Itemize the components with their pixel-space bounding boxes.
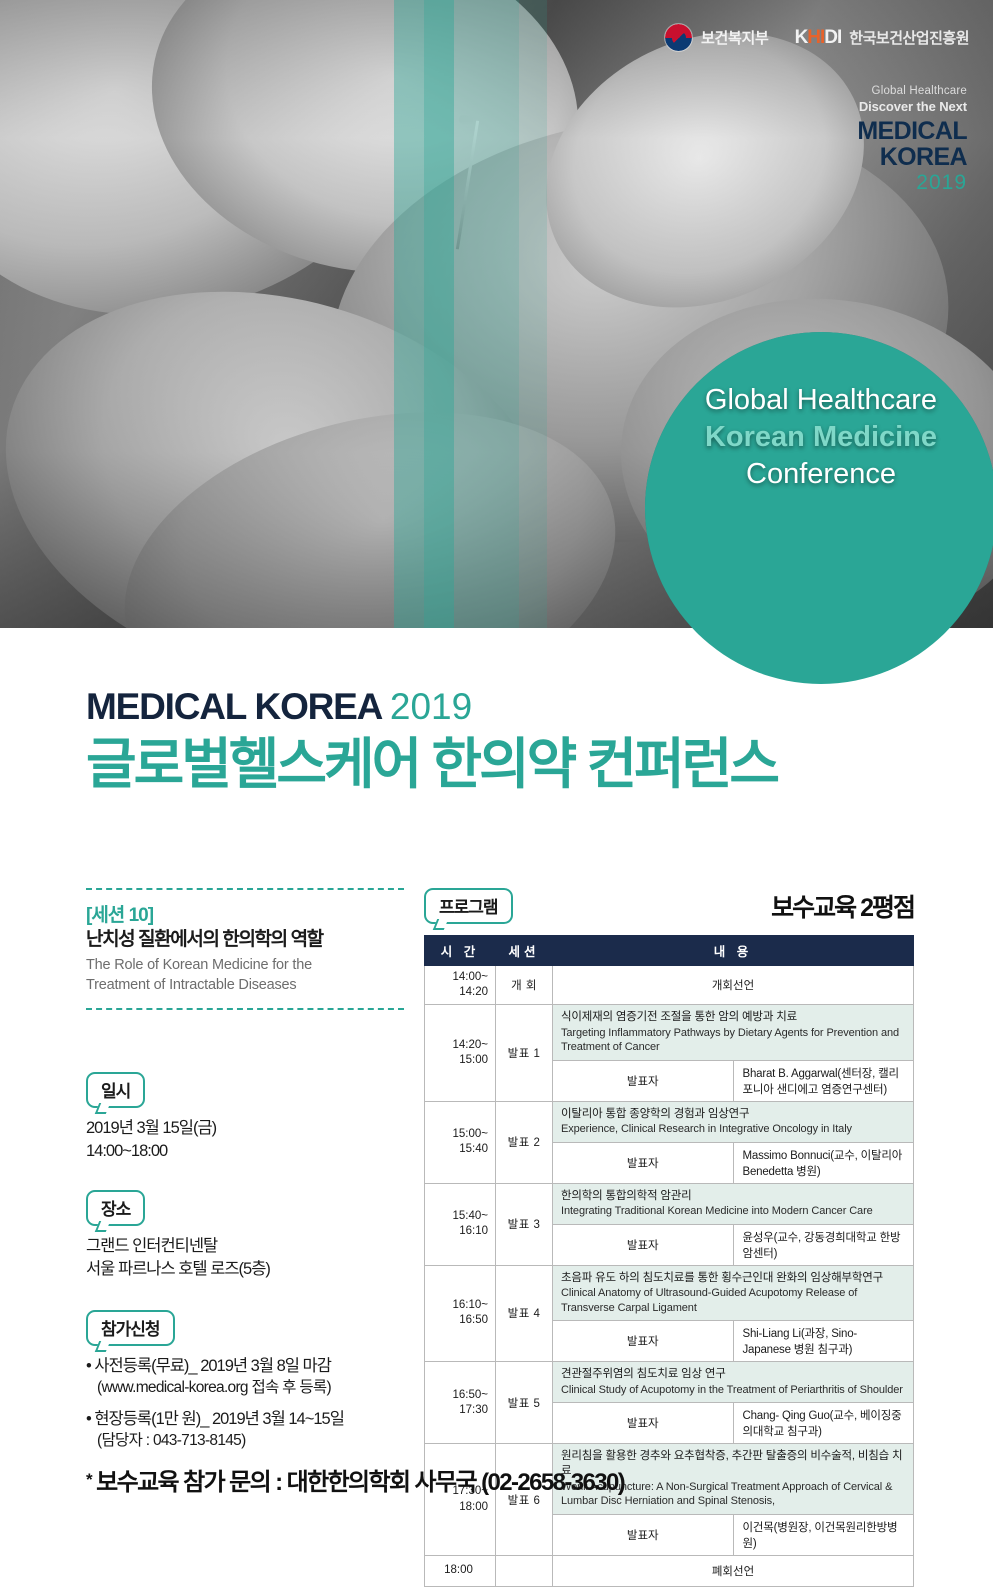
cell-session: 개 회 [496,966,553,1005]
venue-label: 장소 [86,1190,145,1226]
topic-cell: 식이제재의 염증기전 조절을 통한 암의 예방과 치료 Targeting In… [553,1005,913,1060]
divider-bottom [86,1008,404,1010]
topic-english: Clinical Anatomy of Ultrasound-Guided Ac… [561,1286,905,1315]
cell-time: 14:00~14:20 [425,966,496,1005]
topic-cell: 한의학의 통합의학적 암관리 Integrating Traditional K… [553,1184,913,1224]
table-row: 14:20~15:00 발표 1 식이제재의 염증기전 조절을 통한 암의 예방… [425,1005,914,1102]
session-title-korean: 난치성 질환에서의 한의학의 역할 [86,928,404,953]
hero-headline-line1: Global Healthcare [645,382,993,419]
brand-tagline-2: Discover the Next [857,100,967,113]
cell-content: 견관절주위염의 침도치료 임상 연구 Clinical Study of Acu… [553,1362,914,1444]
session-english-line1: The Role of Korean Medicine for the [86,957,312,973]
cell-time: 14:20~15:00 [425,1005,496,1102]
medical-korea-brand-logo: Global Healthcare Discover the Next MEDI… [857,86,967,193]
topic-korean: 견관절주위염의 침도치료 임상 연구 [561,1367,905,1382]
footer-contact: * 보수교육 참가 문의 : 대한한의학회 사무국 (02-2658-3630) [86,1462,624,1497]
date-block: 일시 2019년 3월 15일(금) 14:00~18:00 [86,1072,404,1164]
cell-session: 발표 6 [496,1444,553,1556]
registration-item-pre: • 사전등록(무료)_ 2019년 3월 8일 마감 (www.medical-… [86,1355,404,1399]
table-row: 14:00~14:20 개 회 개회선언 [425,966,914,1005]
program-header-row: 프로그램 보수교육 2평점 [424,888,914,924]
title-main-line: MEDICAL KOREA 2019 [86,688,777,725]
date-line1: 2019년 3월 15일(금) [86,1119,216,1137]
cell-time: 18:00 [425,1555,496,1586]
registration-block: 참가신청 • 사전등록(무료)_ 2019년 3월 8일 마감 (www.med… [86,1310,404,1452]
cell-session: 발표 4 [496,1265,553,1362]
topic-cell: 견관절주위염의 침도치료 임상 연구 Clinical Study of Acu… [553,1362,913,1402]
footer-text: 보수교육 참가 문의 : 대한한의학회 사무국 (02-2658-3630) [96,1469,624,1496]
speaker-name: 윤성우(교수, 강동경희대학교 한방암센터) [733,1224,913,1265]
cell-session: 발표 2 [496,1101,553,1183]
date-label: 일시 [86,1072,145,1108]
speaker-label: 발표자 [553,1514,733,1555]
khidi-label: 한국보건산업진흥원 [849,27,969,48]
speaker-name: Bharat B. Aggarwal(센터장, 캘리포니아 샌디에고 염증연구센… [733,1060,913,1101]
topic-korean: 이탈리아 통합 종양학의 경험과 임상연구 [561,1107,905,1122]
topic-korean: 식이제재의 염증기전 조절을 통한 암의 예방과 치료 [561,1010,905,1025]
venue-line1: 그랜드 인터컨티넨탈 [86,1237,217,1255]
title-year: 2019 [390,686,472,727]
header-session: 세션 [496,936,553,966]
table-row: 17:30~18:00 발표 6 원리침을 활용한 경추와 요추협착증, 추간판… [425,1444,914,1556]
cell-time: 15:00~15:40 [425,1101,496,1183]
program-label: 프로그램 [424,888,513,924]
header-content: 내 용 [553,936,914,966]
table-header-row: 시 간 세션 내 용 [425,936,914,966]
title-main: MEDICAL KOREA [86,686,381,727]
cell-content: 식이제재의 염증기전 조절을 통한 암의 예방과 치료 Targeting In… [553,1005,914,1102]
cell-content: 원리침을 활용한 경추와 요추협착증, 추간판 탈출증의 비수술적, 비침습 치… [553,1444,914,1556]
venue-value: 그랜드 인터컨티넨탈 서울 파르나스 호텔 로즈(5층) [86,1235,404,1282]
cell-content: 초음파 유도 하의 침도치료를 통한 횡수근인대 완화의 임상해부학연구 Cli… [553,1265,914,1362]
topic-cell: 이탈리아 통합 종양학의 경험과 임상연구 Experience, Clinic… [553,1102,913,1142]
table-row: 15:40~16:10 발표 3 한의학의 통합의학적 암관리 Integrat… [425,1183,914,1265]
speaker-label: 발표자 [553,1403,733,1444]
registration-onsite-main: • 현장등록(1만 원)_ 2019년 3월 14~15일 [86,1410,344,1428]
cell-content: 이탈리아 통합 종양학의 경험과 임상연구 Experience, Clinic… [553,1101,914,1183]
speaker-label: 발표자 [553,1224,733,1265]
cell-session: 발표 5 [496,1362,553,1444]
speaker-name: Shi-Liang Li(과장, Sino-Japanese 병원 침구과) [733,1321,913,1362]
brand-name-2: KOREA [857,144,967,170]
session-block: [세션 10] 난치성 질환에서의 한의학의 역할 The Role of Ko… [86,890,404,1008]
left-info-column: [세션 10] 난치성 질환에서의 한의학의 역할 The Role of Ko… [86,888,404,1452]
hero-headline-line3: Conference [645,456,993,493]
topic-english: Targeting Inflammatory Pathways by Dieta… [561,1026,905,1055]
cell-time: 17:30~18:00 [425,1444,496,1556]
topic-cell: 초음파 유도 하의 침도치료를 통한 횡수근인대 완화의 임상해부학연구 Cli… [553,1266,913,1321]
registration-onsite-sub: (담당자 : 043-713-8145) [86,1430,404,1451]
venue-block: 장소 그랜드 인터컨티넨탈 서울 파르나스 호텔 로즈(5층) [86,1190,404,1282]
mohw-logo: 보건복지부 [665,24,769,51]
title-korean: 글로벌헬스케어 한의약 컨퍼런스 [86,735,777,794]
cell-session: 발표 3 [496,1183,553,1265]
table-row: 16:50~17:30 발표 5 견관절주위염의 침도치료 임상 연구 Clin… [425,1362,914,1444]
venue-line2: 서울 파르나스 호텔 로즈(5층) [86,1260,270,1278]
registration-label: 참가신청 [86,1310,175,1346]
teal-bar-mid [424,0,519,628]
session-number: [세션 10] [86,904,404,928]
cell-content: 폐회선언 [553,1555,914,1586]
khidi-wordmark: KHIDI [795,27,842,49]
mohw-label: 보건복지부 [701,27,769,48]
table-row: 15:00~15:40 발표 2 이탈리아 통합 종양학의 경험과 임상연구 E… [425,1101,914,1183]
topic-english: Clinical Study of Acupotomy in the Treat… [561,1383,905,1398]
speaker-name: 이건목(병원장, 이건목원리한방병원) [733,1514,913,1555]
header-time: 시 간 [425,936,496,966]
session-english-line2: Treatment of Intractable Diseases [86,977,296,993]
cell-time: 16:50~17:30 [425,1362,496,1444]
table-row: 16:10~16:50 발표 4 초음파 유도 하의 침도치료를 통한 횡수근인… [425,1265,914,1362]
table-row: 18:00 폐회선언 [425,1555,914,1586]
registration-pre-sub[interactable]: (www.medical-korea.org 접속 후 등록) [86,1377,404,1398]
cell-time: 16:10~16:50 [425,1265,496,1362]
cell-session [496,1555,553,1586]
brand-year: 2019 [857,172,967,193]
poster-title: MEDICAL KOREA 2019 글로벌헬스케어 한의약 컨퍼런스 [86,688,777,794]
brand-tagline-1: Global Healthcare [857,86,967,98]
footer-asterisk: * [86,1470,91,1489]
hero-headline: Global Healthcare Korean Medicine Confer… [645,382,993,493]
cell-content: 한의학의 통합의학적 암관리 Integrating Traditional K… [553,1183,914,1265]
speaker-label: 발표자 [553,1142,733,1183]
topic-english: Integrating Traditional Korean Medicine … [561,1204,905,1219]
session-title-english: The Role of Korean Medicine for the Trea… [86,956,404,995]
government-logos: 보건복지부 KHIDI 한국보건산업진흥원 [665,24,969,51]
brand-name-1: MEDICAL [857,118,967,144]
hero-headline-line2: Korean Medicine [645,419,993,456]
khidi-logo: KHIDI 한국보건산업진흥원 [795,27,969,49]
speaker-name: Massimo Bonnuci(교수, 이탈리아 Benedetta 병원) [733,1142,913,1183]
date-line2: 14:00~18:00 [86,1142,167,1160]
speaker-name: Chang- Qing Guo(교수, 베이징중의대학교 침구과) [733,1403,913,1444]
topic-korean: 한의학의 통합의학적 암관리 [561,1189,905,1204]
cell-session: 발표 1 [496,1005,553,1102]
speaker-label: 발표자 [553,1060,733,1101]
cell-time: 15:40~16:10 [425,1183,496,1265]
topic-korean: 초음파 유도 하의 침도치료를 통한 횡수근인대 완화의 임상해부학연구 [561,1271,905,1286]
credit-badge: 보수교육 2평점 [771,888,914,924]
cell-content: 개회선언 [553,966,914,1005]
registration-pre-main: • 사전등록(무료)_ 2019년 3월 8일 마감 [86,1357,331,1375]
date-value: 2019년 3월 15일(금) 14:00~18:00 [86,1117,404,1164]
topic-english: Experience, Clinical Research in Integra… [561,1122,905,1137]
speaker-label: 발표자 [553,1321,733,1362]
teal-bar-right [519,0,547,628]
registration-item-onsite: • 현장등록(1만 원)_ 2019년 3월 14~15일 (담당자 : 043… [86,1408,404,1452]
taeguk-icon [665,24,692,51]
